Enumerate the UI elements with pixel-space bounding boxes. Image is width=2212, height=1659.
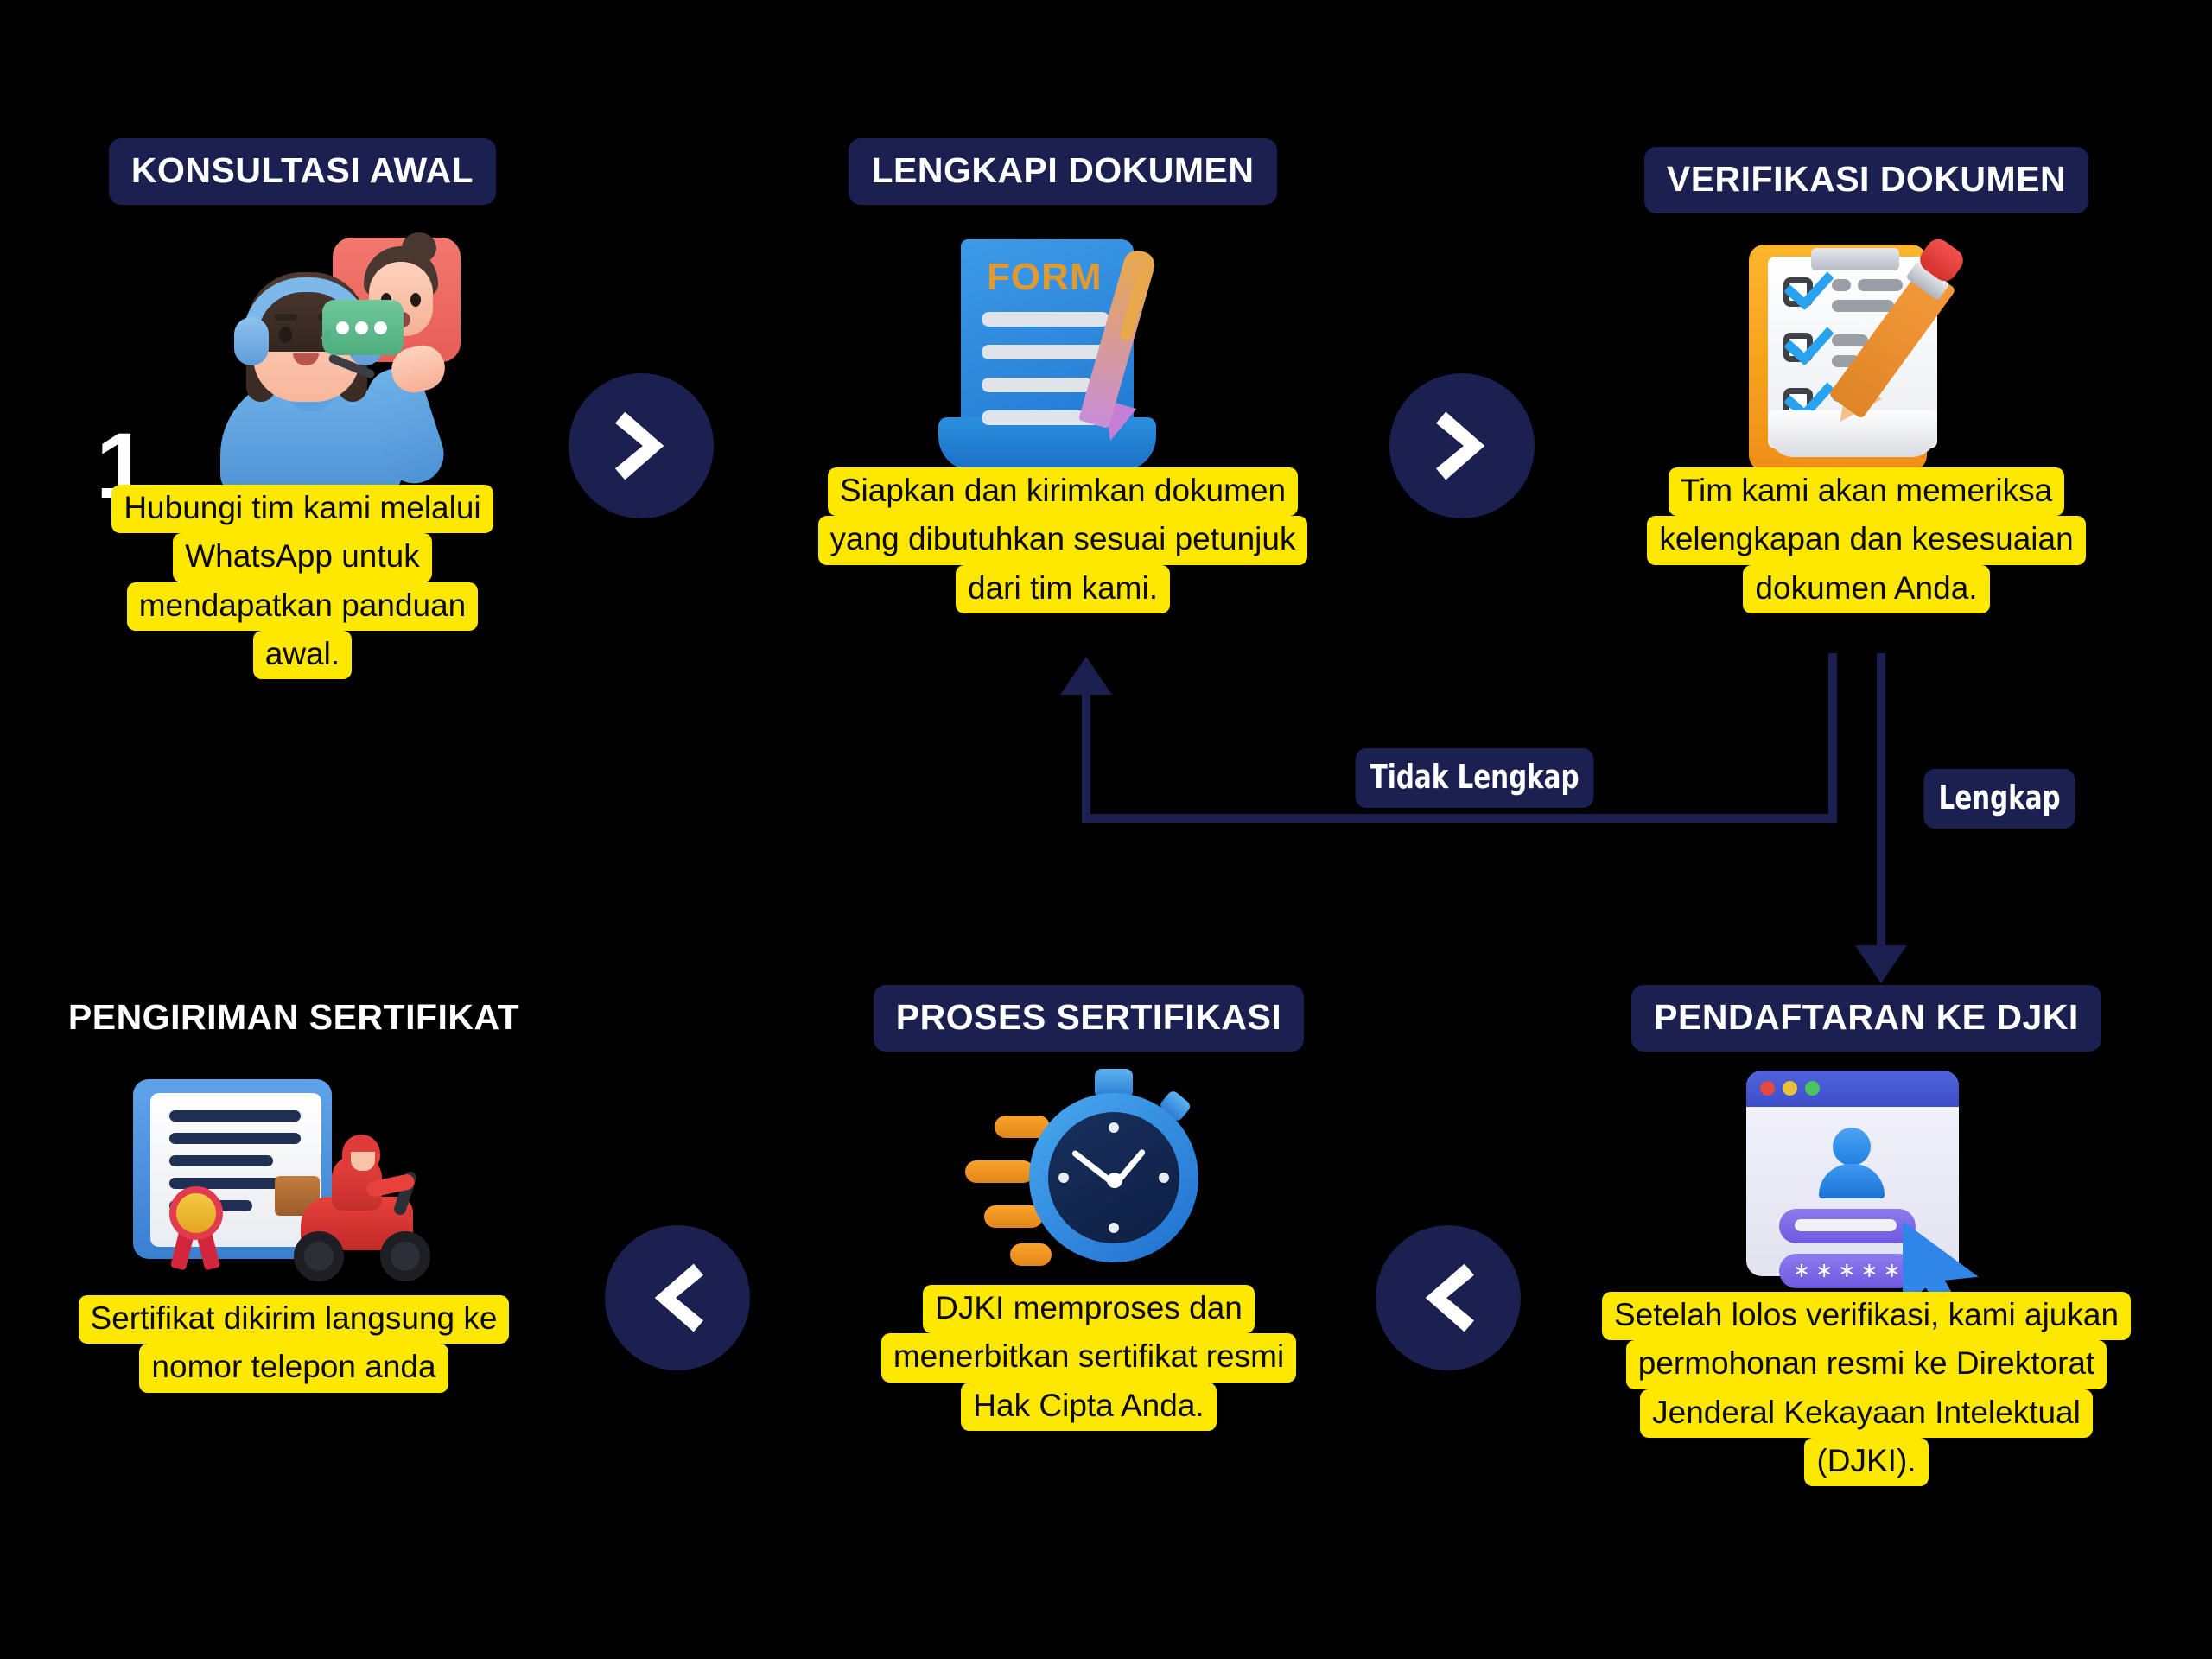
decision-label-tidak-lengkap: Tidak Lengkap	[1355, 748, 1593, 808]
step-5-caption: DJKI memproses dan menerbitkan sertifika…	[855, 1285, 1322, 1431]
caption-line: awal.	[253, 631, 352, 679]
caption-line: menerbitkan sertifikat resmi	[881, 1333, 1296, 1382]
step-6-artwork	[121, 1067, 467, 1309]
chevron-right-glyph	[1428, 407, 1496, 485]
lengkap-arrowhead-down	[1855, 945, 1907, 983]
loop-line-horizontal	[1082, 814, 1837, 823]
chevron-left-glyph	[1414, 1259, 1482, 1337]
step-lengkapi-dokumen: LENGKAPI DOKUMEN FORM Siapkan dan kirimk…	[778, 138, 1348, 613]
caption-line: Setelah lolos verifikasi, kami ajukan	[1602, 1292, 2131, 1340]
flowchart-canvas: KONSULTASI AWAL 1 Hubungi tim kami melal	[0, 0, 2212, 1659]
step-pendaftaran-ke-djki: PENDAFTARAN KE DJKI ∗∗∗∗∗∗ Setelah lolos…	[1590, 985, 2143, 1486]
step-heading-verifikasi-dokumen: VERIFIKASI DOKUMEN	[1644, 147, 2088, 213]
loop-line-vertical-right	[1828, 653, 1837, 823]
caption-line: Siapkan dan kirimkan dokumen	[828, 467, 1298, 516]
stopwatch-timer-icon	[946, 1053, 1231, 1304]
browser-login-window-icon: ∗∗∗∗∗∗	[1724, 1062, 2009, 1313]
step-heading-lengkapi-dokumen: LENGKAPI DOKUMEN	[849, 138, 1276, 205]
step-3-caption: Tim kami akan memeriksa kelengkapan dan …	[1603, 467, 2130, 613]
step-1-artwork: 1	[117, 238, 488, 523]
step-6-caption: Sertifikat dikirim langsung ke nomor tel…	[52, 1295, 536, 1393]
step-verifikasi-dokumen: VERIFIKASI DOKUMEN Tim kami akan memerik…	[1590, 147, 2143, 613]
form-document-pen-icon: FORM	[933, 234, 1192, 485]
chevron-left-2-icon	[605, 1225, 750, 1370]
chevron-right-glyph	[607, 407, 675, 485]
chevron-left-glyph	[644, 1259, 711, 1337]
lengkap-line-vertical	[1877, 653, 1885, 950]
step-4-artwork: ∗∗∗∗∗∗	[1724, 1071, 2009, 1313]
caption-line: dari tim kami.	[956, 565, 1170, 613]
caption-line: (DJKI).	[1804, 1438, 1928, 1486]
caption-line: Sertifikat dikirim langsung ke	[79, 1295, 510, 1344]
form-label: FORM	[987, 258, 1103, 296]
caption-line: permohonan resmi ke Direktorat	[1626, 1340, 2107, 1389]
step-heading-proses-sertifikasi: PROSES SERTIFIKASI	[874, 985, 1304, 1052]
checklist-clipboard-pencil-icon	[1737, 238, 1996, 488]
chevron-right-1-icon	[569, 373, 714, 518]
step-heading-pendaftaran-ke-djki: PENDAFTARAN KE DJKI	[1631, 985, 2101, 1052]
step-3-artwork	[1737, 229, 1996, 488]
step-4-caption: Setelah lolos verifikasi, kami ajukan pe…	[1581, 1292, 2152, 1486]
step-konsultasi-awal: KONSULTASI AWAL 1 Hubungi tim kami melal	[52, 138, 553, 679]
step-heading-pengiriman-sertifikat: PENGIRIMAN SERTIFIKAT	[65, 985, 523, 1052]
step-5-artwork	[946, 1071, 1231, 1304]
headset-agent-video-call-icon	[117, 238, 488, 523]
step-1-caption: Hubungi tim kami melalui WhatsApp untuk …	[78, 485, 527, 679]
caption-line: dokumen Anda.	[1743, 565, 1989, 613]
caption-line: nomor telepon anda	[139, 1344, 448, 1392]
chevron-right-2-icon	[1389, 373, 1535, 518]
step-pengiriman-sertifikat: PENGIRIMAN SERTIFIKAT Sertifikat dikirim…	[35, 985, 553, 1393]
caption-line: Jenderal Kekayaan Intelektual	[1640, 1389, 2093, 1438]
caption-line: Hubungi tim kami melalui	[111, 485, 493, 533]
caption-line: kelengkapan dan kesesuaian	[1647, 516, 2085, 564]
loop-arrowhead-up	[1060, 657, 1112, 695]
step-2-caption: Siapkan dan kirimkan dokumen yang dibutu…	[786, 467, 1339, 613]
chevron-left-1-icon	[1376, 1225, 1521, 1370]
password-mask: ∗∗∗∗∗∗	[1793, 1257, 1905, 1285]
caption-line: Hak Cipta Anda.	[961, 1382, 1216, 1431]
decision-label-lengkap: Lengkap	[1923, 769, 2075, 829]
caption-line: yang dibutuhkan sesuai petunjuk	[818, 516, 1308, 564]
caption-line: DJKI memproses dan	[923, 1285, 1255, 1333]
step-proses-sertifikasi: PROSES SERTIFIKASI DJKI memproses dan me…	[829, 985, 1348, 1431]
caption-line: mendapatkan panduan	[127, 582, 479, 631]
certificate-delivery-scooter-icon	[121, 1058, 467, 1309]
loop-line-vertical-left	[1082, 691, 1090, 823]
step-2-artwork: FORM	[933, 226, 1192, 485]
caption-line: Tim kami akan memeriksa	[1669, 467, 2064, 516]
step-heading-konsultasi-awal: KONSULTASI AWAL	[109, 138, 496, 205]
caption-line: WhatsApp untuk	[173, 533, 431, 582]
